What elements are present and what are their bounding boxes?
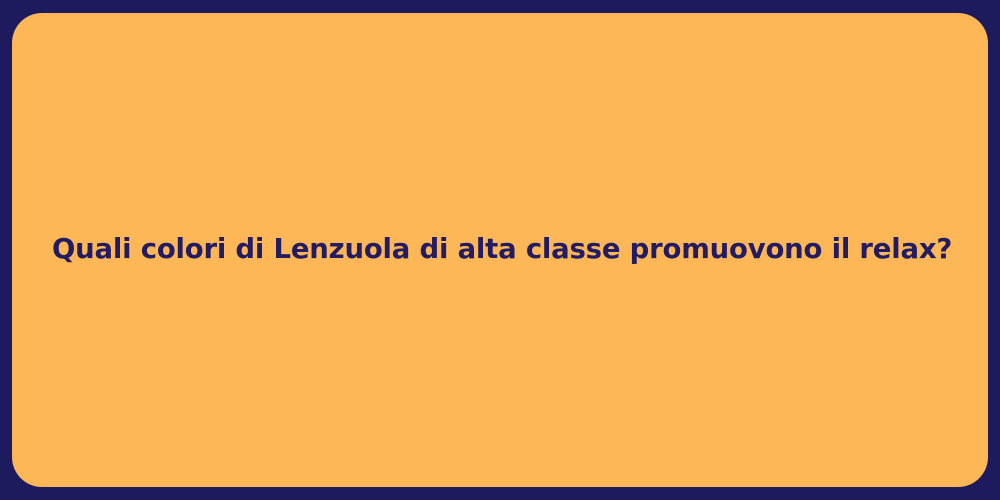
card-content: Quali colori di Lenzuola di alta classe … <box>12 232 988 268</box>
question-card: Quali colori di Lenzuola di alta classe … <box>12 13 988 487</box>
page-frame: Quali colori di Lenzuola di alta classe … <box>0 0 1000 500</box>
page-title: Quali colori di Lenzuola di alta classe … <box>52 232 948 268</box>
